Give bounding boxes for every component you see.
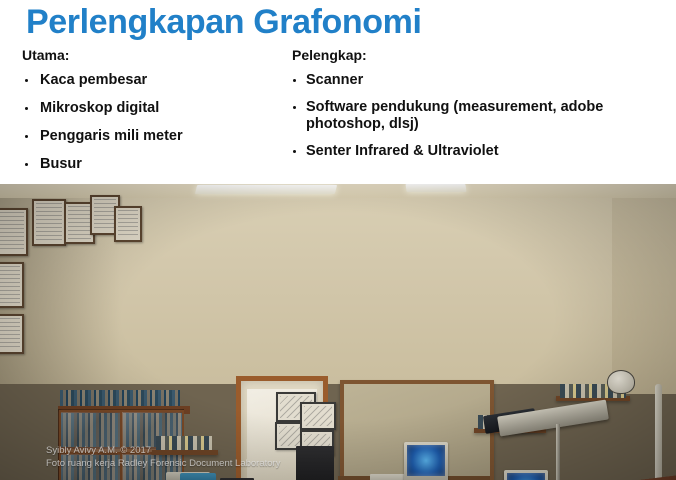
crt-monitor [504, 470, 548, 480]
list-item: Busur [22, 156, 284, 173]
list-item-label: Software pendukung (measurement, adobe p… [306, 99, 603, 132]
list-item-label: Busur [40, 156, 82, 172]
crt-monitor [404, 442, 448, 480]
framed-certificate [32, 199, 66, 246]
framed-certificate [114, 206, 142, 242]
framed-picture [300, 402, 336, 430]
column-heading-pelengkap: Pelengkap: [292, 46, 670, 64]
blue-storage-crate [180, 473, 216, 480]
wall-right [612, 184, 676, 394]
list-item-label: Senter Infrared & Ultraviolet [306, 143, 499, 159]
bullet-dot-icon [25, 135, 28, 138]
list-item-label: Kaca pembesar [40, 72, 147, 88]
page-title: Perlengkapan Grafonomi [26, 2, 422, 42]
scanner-unit [370, 474, 406, 480]
caption-credit: Syibly Avivy A.M. © 2017 [46, 444, 280, 457]
copy-stand-post [556, 424, 560, 480]
bullet-list-utama: Kaca pembesar Mikroskop digital Penggari… [22, 72, 284, 173]
ceiling-light-fixture [405, 184, 466, 192]
ceiling-light-fixture [195, 185, 337, 194]
list-item-label: Scanner [306, 72, 363, 88]
column-pelengkap: Pelengkap: Scanner Software pendukung (m… [292, 46, 670, 170]
wall-pipe [655, 384, 662, 480]
list-item: Senter Infrared & Ultraviolet [292, 143, 670, 160]
column-utama: Utama: Kaca pembesar Mikroskop digital P… [22, 46, 284, 184]
list-item: Scanner [292, 72, 670, 89]
bullet-dot-icon [293, 79, 296, 82]
column-heading-utama: Utama: [22, 46, 284, 64]
equipment-tower [296, 446, 334, 480]
framed-certificate [0, 208, 28, 256]
photo-caption: Syibly Avivy A.M. © 2017 Foto ruang kerj… [46, 444, 280, 470]
bullet-list-pelengkap: Scanner Software pendukung (measurement,… [292, 72, 670, 160]
wall-clock [607, 370, 635, 394]
bullet-dot-icon [293, 150, 296, 153]
monitor-screen [407, 445, 445, 476]
list-item-label: Penggaris mili meter [40, 128, 183, 144]
list-item: Mikroskop digital [22, 100, 284, 117]
copy-stand-platform [497, 400, 609, 437]
framed-certificate [0, 314, 24, 354]
framed-certificate [0, 262, 24, 308]
list-item: Kaca pembesar [22, 72, 284, 89]
presentation-slide: Perlengkapan Grafonomi Utama: Kaca pembe… [0, 0, 676, 480]
bullet-dot-icon [25, 163, 28, 166]
monitor-screen [507, 473, 545, 480]
bullet-dot-icon [25, 107, 28, 110]
laboratory-photo: Syibly Avivy A.M. © 2017 Foto ruang kerj… [0, 184, 676, 480]
bullet-dot-icon [25, 79, 28, 82]
caption-description: Foto ruang kerja Radley Forensic Documen… [46, 457, 280, 470]
list-item: Software pendukung (measurement, adobe p… [292, 99, 670, 133]
list-item-label: Mikroskop digital [40, 100, 159, 116]
bullet-dot-icon [293, 106, 296, 109]
books-on-top [60, 390, 180, 407]
list-item: Penggaris mili meter [22, 128, 284, 145]
